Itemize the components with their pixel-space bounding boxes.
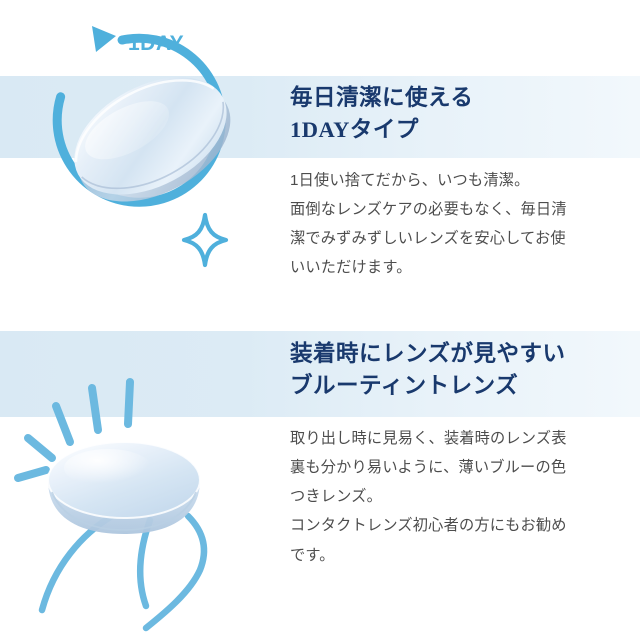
- feature-one-day-body: 1日使い捨てだから、いつも清潔。 面倒なレンズケアの必要もなく、毎日清 潔でみず…: [290, 146, 620, 283]
- contact-lens-rotating-arrow-illustration: 1DAY: [0, 0, 285, 320]
- feature-one-day-copy: 毎日清潔に使える 1DAYタイプ 1日使い捨てだから、いつも清潔。 面倒なレンズ…: [290, 0, 620, 283]
- sparkle-icon: [184, 215, 226, 265]
- feature-blue-tint-copy: 装着時にレンズが見やすい ブルーティントレンズ 取り出し時に見易く、装着時のレン…: [290, 320, 620, 570]
- one-day-badge-label: 1DAY: [128, 32, 184, 55]
- feature-one-day-type: 1DAY 毎日清潔に使える 1DAYタイプ 1日使い捨てだから、いつも清潔。 面…: [0, 0, 640, 320]
- contact-lens-shape: [48, 442, 200, 534]
- feature-blue-tint-heading: 装着時にレンズが見やすい ブルーティントレンズ: [290, 338, 620, 402]
- product-feature-panel: 1DAY 毎日清潔に使える 1DAYタイプ 1日使い捨てだから、いつも清潔。 面…: [0, 0, 640, 640]
- feature-one-day-heading: 毎日清潔に使える 1DAYタイプ: [290, 82, 620, 146]
- feature-blue-tint-body: 取り出し時に見易く、装着時のレンズ表 裏も分かり易いように、薄いブルーの色 つき…: [290, 402, 620, 570]
- lens-on-fingertip-illustration: [0, 320, 285, 640]
- feature-blue-tint-lens: 装着時にレンズが見やすい ブルーティントレンズ 取り出し時に見易く、装着時のレン…: [0, 320, 640, 640]
